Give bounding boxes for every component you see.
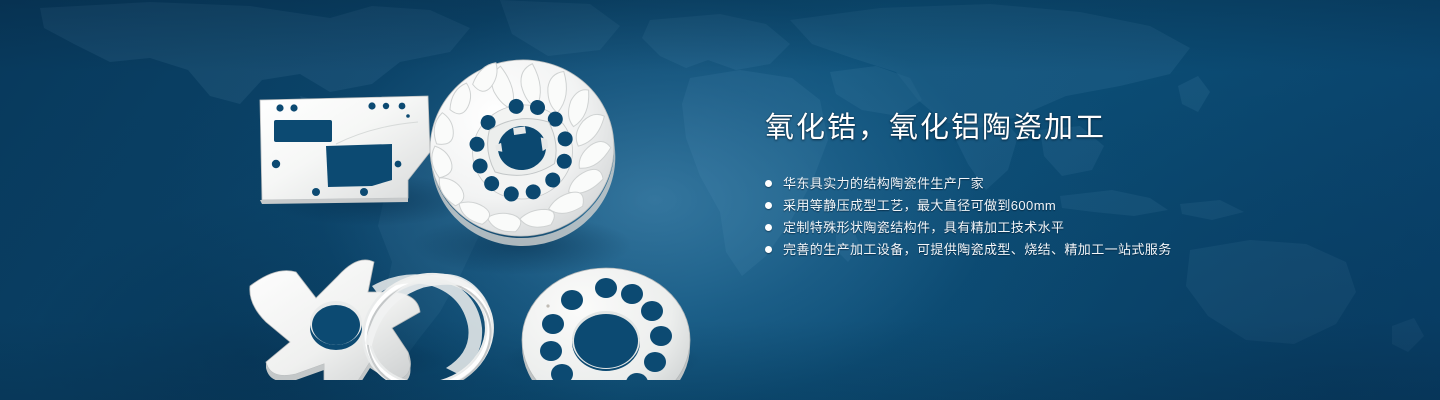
list-item: 采用等静压成型工艺，最大直径可做到600mm	[765, 195, 1385, 216]
list-item: 定制特殊形状陶瓷结构件，具有精加工技术水平	[765, 217, 1385, 238]
bullet-dot-icon	[765, 202, 772, 209]
ceramic-perforated-ring-plate	[522, 268, 690, 380]
bullet-text: 完善的生产加工设备，可提供陶瓷成型、烧结、精加工一站式服务	[783, 239, 1172, 260]
hero-banner: 氧化锆，氧化铝陶瓷加工 华东具实力的结构陶瓷件生产厂家 采用等静压成型工艺，最大…	[0, 0, 1440, 400]
bullet-text: 采用等静压成型工艺，最大直径可做到600mm	[783, 195, 1056, 216]
list-item: 完善的生产加工设备，可提供陶瓷成型、烧结、精加工一站式服务	[765, 239, 1385, 260]
bullet-dot-icon	[765, 224, 772, 231]
bullet-dot-icon	[765, 180, 772, 187]
bullet-text: 华东具实力的结构陶瓷件生产厂家	[783, 173, 984, 194]
banner-headline: 氧化锆，氧化铝陶瓷加工	[765, 110, 1385, 146]
banner-copy: 氧化锆，氧化铝陶瓷加工 华东具实力的结构陶瓷件生产厂家 采用等静压成型工艺，最大…	[765, 110, 1385, 261]
ceramic-products-image	[232, 40, 712, 380]
banner-bullet-list: 华东具实力的结构陶瓷件生产厂家 采用等静压成型工艺，最大直径可做到600mm 定…	[765, 173, 1385, 260]
bullet-dot-icon	[765, 246, 772, 253]
list-item: 华东具实力的结构陶瓷件生产厂家	[765, 173, 1385, 194]
ceramic-machined-plate	[260, 96, 430, 204]
bullet-text: 定制特殊形状陶瓷结构件，具有精加工技术水平	[783, 217, 1064, 238]
